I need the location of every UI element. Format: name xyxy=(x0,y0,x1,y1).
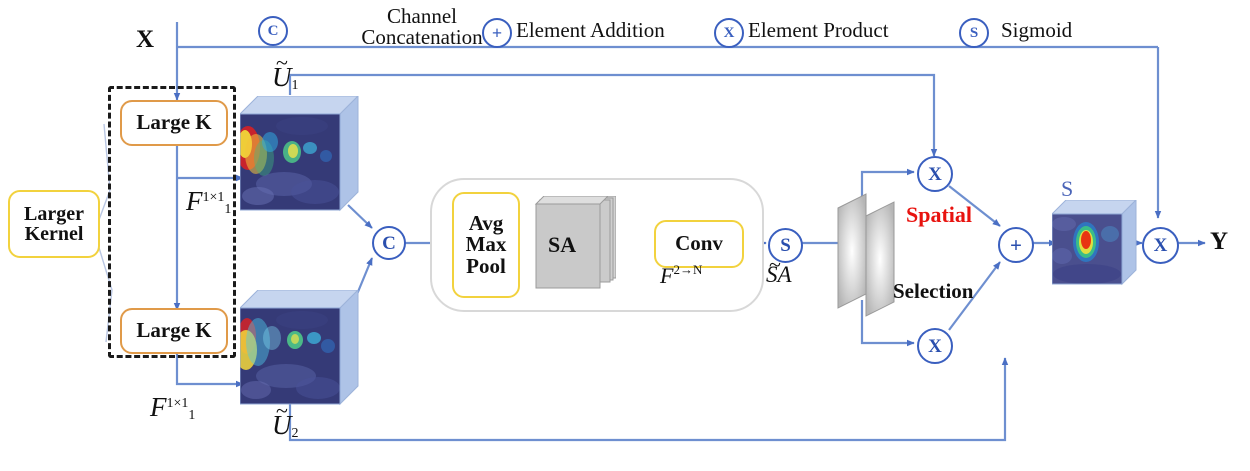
selection-label: Selection xyxy=(893,279,973,304)
legend-label-product: Element Product xyxy=(748,19,889,41)
multiply-output-operator[interactable]: X xyxy=(1142,227,1179,264)
feature-cube-u1 xyxy=(240,96,360,212)
f1-top-label: F1×11 xyxy=(186,186,231,218)
f-conv-label: F2→N xyxy=(660,262,702,289)
sigmoid-icon: S xyxy=(959,18,989,48)
f-conv-sup: 2→N xyxy=(673,262,702,277)
pool-line3: Pool xyxy=(466,256,506,277)
f1-top-base: F xyxy=(186,186,203,216)
u1-sub: 1 xyxy=(292,78,299,93)
f1-top-sup: 1×1 xyxy=(203,190,225,205)
u2-sub: 2 xyxy=(292,426,299,441)
pool-line2: Max xyxy=(466,234,507,255)
sa-tilde-label: ~ SA xyxy=(766,262,792,288)
multiply-top-operator[interactable]: X xyxy=(917,156,953,192)
f1-bottom-base: F xyxy=(150,392,167,422)
input-label-x: X xyxy=(136,26,154,54)
u2-label: ~ U2 xyxy=(272,410,299,442)
f1-bottom-sup: 1×1 xyxy=(167,396,189,411)
diagram-canvas: C Channel Concatenation + Element Additi… xyxy=(0,0,1250,471)
larger-kernel-line1: Larger xyxy=(24,204,84,224)
add-operator[interactable]: + xyxy=(998,227,1034,263)
larger-kernel-line2: Kernel xyxy=(25,224,84,244)
multiply-icon: X xyxy=(714,18,744,48)
output-label-y: Y xyxy=(1210,228,1228,256)
avg-max-pool-block[interactable]: Avg Max Pool xyxy=(452,192,520,298)
f1-top-sub: 1 xyxy=(224,202,231,217)
spatial-label: Spatial xyxy=(906,202,972,228)
feature-cube-u2 xyxy=(240,290,360,406)
sa-stack-block[interactable]: SA xyxy=(534,196,616,296)
pool-line1: Avg xyxy=(469,213,504,234)
feature-cube-s xyxy=(1052,200,1138,288)
concat-operator[interactable]: C xyxy=(372,226,406,260)
large-k-top-block[interactable]: Large K xyxy=(120,100,228,146)
f-conv-base: F xyxy=(660,263,673,288)
conv-block[interactable]: Conv xyxy=(654,220,744,268)
sa-label: SA xyxy=(548,232,576,258)
large-k-bottom-block[interactable]: Large K xyxy=(120,308,228,354)
plus-icon: + xyxy=(482,18,512,48)
u1-label: ~ U1 xyxy=(272,62,299,94)
f1-bottom-label: F1×11 xyxy=(150,392,195,424)
concat-icon: C xyxy=(258,16,288,46)
f1-bottom-sub: 1 xyxy=(188,408,195,423)
legend-label-sigmoid: Sigmoid xyxy=(1001,19,1072,41)
multiply-bottom-operator[interactable]: X xyxy=(917,328,953,364)
legend-label-addition: Element Addition xyxy=(516,19,665,41)
larger-kernel-callout: Larger Kernel xyxy=(8,190,100,258)
s-map-label: S xyxy=(1061,176,1073,202)
